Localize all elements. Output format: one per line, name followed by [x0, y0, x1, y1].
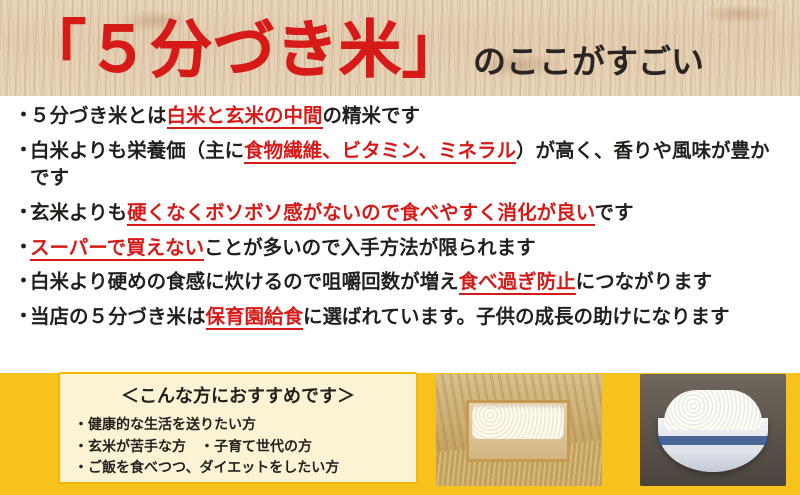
feature-bullet: ・白米よりも栄養価（主に食物繊維、ビタミン、ミネラル）が高く、香りや風味が豊かで…	[14, 137, 786, 192]
bullet-text: ５分づき米とは白米と玄米の中間の精米です	[30, 102, 786, 130]
plain-phrase: 白米より硬めの食感に炊けるので咀嚼回数が増え	[30, 270, 459, 293]
highlighted-phrase: 食物繊維、ビタミン、ミネラル	[244, 139, 516, 164]
cooked-rice-mound	[664, 390, 762, 430]
bullet-marker-icon: ・	[14, 199, 30, 226]
highlighted-phrase: 硬くなくボソボソ感がないので食べやすく消化が良い	[127, 201, 594, 226]
plain-phrase: 玄米よりも	[30, 201, 127, 224]
plain-phrase: ことが多いので入手方法が限られます	[204, 236, 536, 259]
title-main-text: 「５分づき米」	[24, 19, 465, 81]
feature-bullet: ・玄米よりも硬くなくボソボソ感がないので食べやすく消化が良いです	[14, 199, 786, 227]
page-title: 「５分づき米」 のここがすごい	[0, 6, 800, 94]
bullet-marker-icon: ・	[14, 303, 30, 330]
recommendation-item: ・ご飯を食べつつ、ダイエットをしたい方	[70, 458, 406, 480]
plain-phrase: 当店の５分づき米は	[30, 305, 206, 328]
feature-bullet: ・当店の５分づき米は保育園給食に選ばれています。子供の成長の助けになります	[14, 303, 786, 331]
bowl-blue-band	[658, 436, 768, 445]
cooked-rice-bowl-photo	[640, 374, 786, 486]
title-sub-text: のここがすごい	[473, 23, 704, 78]
masu-box-uncooked-rice-photo	[436, 374, 602, 486]
bullet-marker-icon: ・	[14, 268, 30, 295]
recommendation-item: ・玄米が苦手な方 ・子育て世代の方	[70, 437, 406, 459]
feature-bullet: ・スーパーで買えないことが多いので入手方法が限られます	[14, 234, 786, 262]
bullet-marker-icon: ・	[14, 234, 30, 261]
uncooked-rice-grains	[472, 405, 564, 439]
bullet-text: 白米よりも栄養価（主に食物繊維、ビタミン、ミネラル）が高く、香りや風味が豊かです	[30, 137, 786, 192]
highlighted-phrase: スーパーで買えない	[30, 236, 204, 261]
feature-bullet: ・５分づき米とは白米と玄米の中間の精米です	[14, 102, 786, 130]
plain-phrase: ５分づき米とは	[30, 104, 167, 127]
highlighted-phrase: 食べ過ぎ防止	[459, 270, 576, 295]
recommendation-box: ＜こんな方におすすめです＞ ・健康的な生活を送りたい方 ・玄米が苦手な方 ・子育…	[58, 372, 418, 484]
bullet-marker-icon: ・	[14, 137, 30, 164]
recommendation-item: ・健康的な生活を送りたい方	[70, 415, 406, 437]
recommendation-title: ＜こんな方におすすめです＞	[70, 382, 406, 408]
plain-phrase: の精米です	[323, 104, 421, 127]
plain-phrase: 白米よりも栄養価（主に	[30, 139, 244, 162]
bullet-text: 白米より硬めの食感に炊けるので咀嚼回数が増え食べ過ぎ防止につながります	[30, 268, 786, 296]
bullet-text: 当店の５分づき米は保育園給食に選ばれています。子供の成長の助けになります	[30, 303, 786, 331]
feature-bullet-list: ・５分づき米とは白米と玄米の中間の精米です・白米よりも栄養価（主に食物繊維、ビタ…	[0, 98, 800, 338]
bullet-text: スーパーで買えないことが多いので入手方法が限られます	[30, 234, 786, 262]
highlighted-phrase: 保育園給食	[206, 305, 304, 330]
feature-bullet: ・白米より硬めの食感に炊けるので咀嚼回数が増え食べ過ぎ防止につながります	[14, 268, 786, 296]
plain-phrase: に選ばれています。子供の成長の助けになります	[303, 305, 729, 328]
bullet-text: 玄米よりも硬くなくボソボソ感がないので食べやすく消化が良いです	[30, 199, 786, 227]
plain-phrase: です	[595, 201, 634, 224]
highlighted-phrase: 白米と玄米の中間	[167, 104, 323, 129]
bullet-marker-icon: ・	[14, 102, 30, 129]
plain-phrase: につながります	[576, 270, 713, 293]
